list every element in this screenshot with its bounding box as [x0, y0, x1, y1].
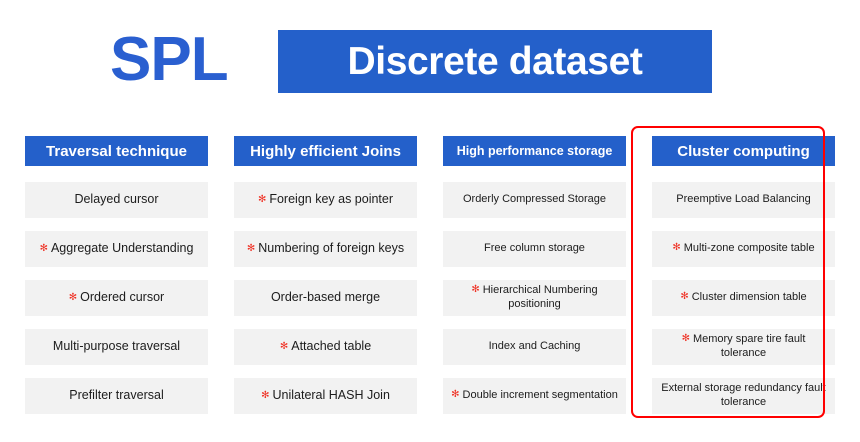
asterisk-icon: ✻	[69, 292, 77, 305]
feature-cell[interactable]: Order-based merge	[234, 280, 417, 316]
feature-cell-label: Orderly Compressed Storage	[463, 193, 606, 207]
slide-canvas: SPL Discrete dataset Traversal technique…	[0, 0, 860, 442]
asterisk-icon: ✻	[261, 390, 269, 403]
asterisk-icon: ✻	[247, 243, 255, 256]
feature-cell-label: External storage redundancy fault tolera…	[658, 382, 829, 410]
feature-cell-text: Multi-zone composite table	[684, 242, 815, 254]
feature-cell-text: Double increment segmentation	[463, 389, 618, 401]
column-cell-list: ✻Foreign key as pointer✻Numbering of for…	[234, 182, 417, 414]
feature-cell[interactable]: Index and Caching	[443, 329, 626, 365]
column-cell-list: Preemptive Load Balancing✻Multi-zone com…	[652, 182, 835, 414]
feature-cell[interactable]: ✻Aggregate Understanding	[25, 231, 208, 267]
feature-cell-label: ✻Double increment segmentation	[451, 389, 618, 403]
feature-cell-label: Preemptive Load Balancing	[676, 193, 811, 207]
page-title: Discrete dataset	[348, 42, 643, 81]
asterisk-icon: ✻	[672, 242, 680, 255]
asterisk-icon: ✻	[280, 341, 288, 354]
feature-cell-text: External storage redundancy fault tolera…	[661, 382, 826, 408]
feature-cell[interactable]: Orderly Compressed Storage	[443, 182, 626, 218]
asterisk-icon: ✻	[680, 291, 688, 304]
feature-cell-text: Delayed cursor	[74, 192, 158, 206]
column-header-4[interactable]: Cluster computing	[652, 136, 835, 166]
column-cell-list: Orderly Compressed StorageFree column st…	[443, 182, 626, 414]
feature-cell-text: Ordered cursor	[80, 290, 164, 304]
feature-cell[interactable]: Prefilter traversal	[25, 378, 208, 414]
feature-cell-label: Order-based merge	[271, 290, 380, 306]
feature-cell-label: Delayed cursor	[74, 192, 158, 208]
feature-cell-text: Numbering of foreign keys	[258, 241, 404, 255]
feature-cell-label: ✻Unilateral HASH Join	[261, 388, 390, 404]
feature-cell-text: Orderly Compressed Storage	[463, 193, 606, 205]
feature-cell-label: Free column storage	[484, 242, 585, 256]
feature-cell-label: ✻Foreign key as pointer	[258, 192, 393, 208]
feature-cell[interactable]: ✻Foreign key as pointer	[234, 182, 417, 218]
feature-cell[interactable]: ✻Ordered cursor	[25, 280, 208, 316]
feature-cell-label: Index and Caching	[489, 340, 581, 354]
column-header-1[interactable]: Traversal technique	[25, 136, 208, 166]
feature-cell[interactable]: ✻Multi-zone composite table	[652, 231, 835, 267]
feature-cell[interactable]: Delayed cursor	[25, 182, 208, 218]
feature-cell-label: ✻Cluster dimension table	[680, 291, 806, 305]
feature-column-4: Cluster computingPreemptive Load Balanci…	[652, 136, 835, 426]
feature-cell-label: ✻Hierarchical Numbering positioning	[449, 284, 620, 312]
feature-cell[interactable]: ✻Attached table	[234, 329, 417, 365]
feature-column-2: Highly efficient Joins✻Foreign key as po…	[234, 136, 417, 426]
column-cell-list: Delayed cursor✻Aggregate Understanding✻O…	[25, 182, 208, 414]
feature-cell[interactable]: ✻Hierarchical Numbering positioning	[443, 280, 626, 316]
feature-cell-label: Multi-purpose traversal	[53, 339, 180, 355]
feature-cell-text: Hierarchical Numbering positioning	[483, 284, 598, 310]
feature-cell-text: Order-based merge	[271, 290, 380, 304]
feature-cell-label: ✻Ordered cursor	[69, 290, 164, 306]
asterisk-icon: ✻	[682, 333, 690, 346]
column-header-label: Highly efficient Joins	[250, 144, 401, 159]
feature-cell[interactable]: ✻Double increment segmentation	[443, 378, 626, 414]
title-banner: Discrete dataset	[278, 30, 712, 93]
feature-cell[interactable]: ✻Numbering of foreign keys	[234, 231, 417, 267]
column-header-2[interactable]: Highly efficient Joins	[234, 136, 417, 166]
feature-cell[interactable]: Multi-purpose traversal	[25, 329, 208, 365]
column-header-3[interactable]: High performance storage	[443, 136, 626, 166]
feature-cell[interactable]: ✻Unilateral HASH Join	[234, 378, 417, 414]
column-header-label: Traversal technique	[46, 144, 187, 159]
brand-logo-spl: SPL	[110, 24, 268, 96]
asterisk-icon: ✻	[451, 389, 459, 402]
feature-cell-label: ✻Attached table	[280, 339, 371, 355]
feature-cell-text: Foreign key as pointer	[269, 192, 393, 206]
feature-cell-text: Index and Caching	[489, 340, 581, 352]
feature-columns: Traversal techniqueDelayed cursor✻Aggreg…	[25, 136, 835, 426]
feature-cell-label: Prefilter traversal	[69, 388, 163, 404]
feature-cell-label: ✻Numbering of foreign keys	[247, 241, 404, 257]
feature-column-1: Traversal techniqueDelayed cursor✻Aggreg…	[25, 136, 208, 426]
asterisk-icon: ✻	[471, 284, 479, 297]
feature-cell-text: Attached table	[291, 339, 371, 353]
asterisk-icon: ✻	[258, 194, 266, 207]
feature-cell-text: Cluster dimension table	[692, 291, 807, 303]
feature-cell[interactable]: External storage redundancy fault tolera…	[652, 378, 835, 414]
feature-cell-text: Free column storage	[484, 242, 585, 254]
feature-cell-text: Preemptive Load Balancing	[676, 193, 811, 205]
feature-cell-label: ✻Aggregate Understanding	[40, 241, 194, 257]
feature-cell[interactable]: ✻Cluster dimension table	[652, 280, 835, 316]
feature-cell-text: Multi-purpose traversal	[53, 339, 180, 353]
column-header-label: Cluster computing	[677, 144, 810, 159]
feature-cell[interactable]: Free column storage	[443, 231, 626, 267]
feature-cell-text: Memory spare tire fault tolerance	[693, 333, 805, 359]
feature-cell[interactable]: ✻Memory spare tire fault tolerance	[652, 329, 835, 365]
asterisk-icon: ✻	[40, 243, 48, 256]
feature-cell-text: Prefilter traversal	[69, 388, 163, 402]
feature-column-3: High performance storageOrderly Compress…	[443, 136, 626, 426]
feature-cell-text: Unilateral HASH Join	[272, 388, 389, 402]
feature-cell[interactable]: Preemptive Load Balancing	[652, 182, 835, 218]
feature-cell-text: Aggregate Understanding	[51, 241, 193, 255]
column-header-label: High performance storage	[457, 145, 613, 158]
feature-cell-label: ✻Multi-zone composite table	[672, 242, 814, 256]
feature-cell-label: ✻Memory spare tire fault tolerance	[658, 333, 829, 361]
